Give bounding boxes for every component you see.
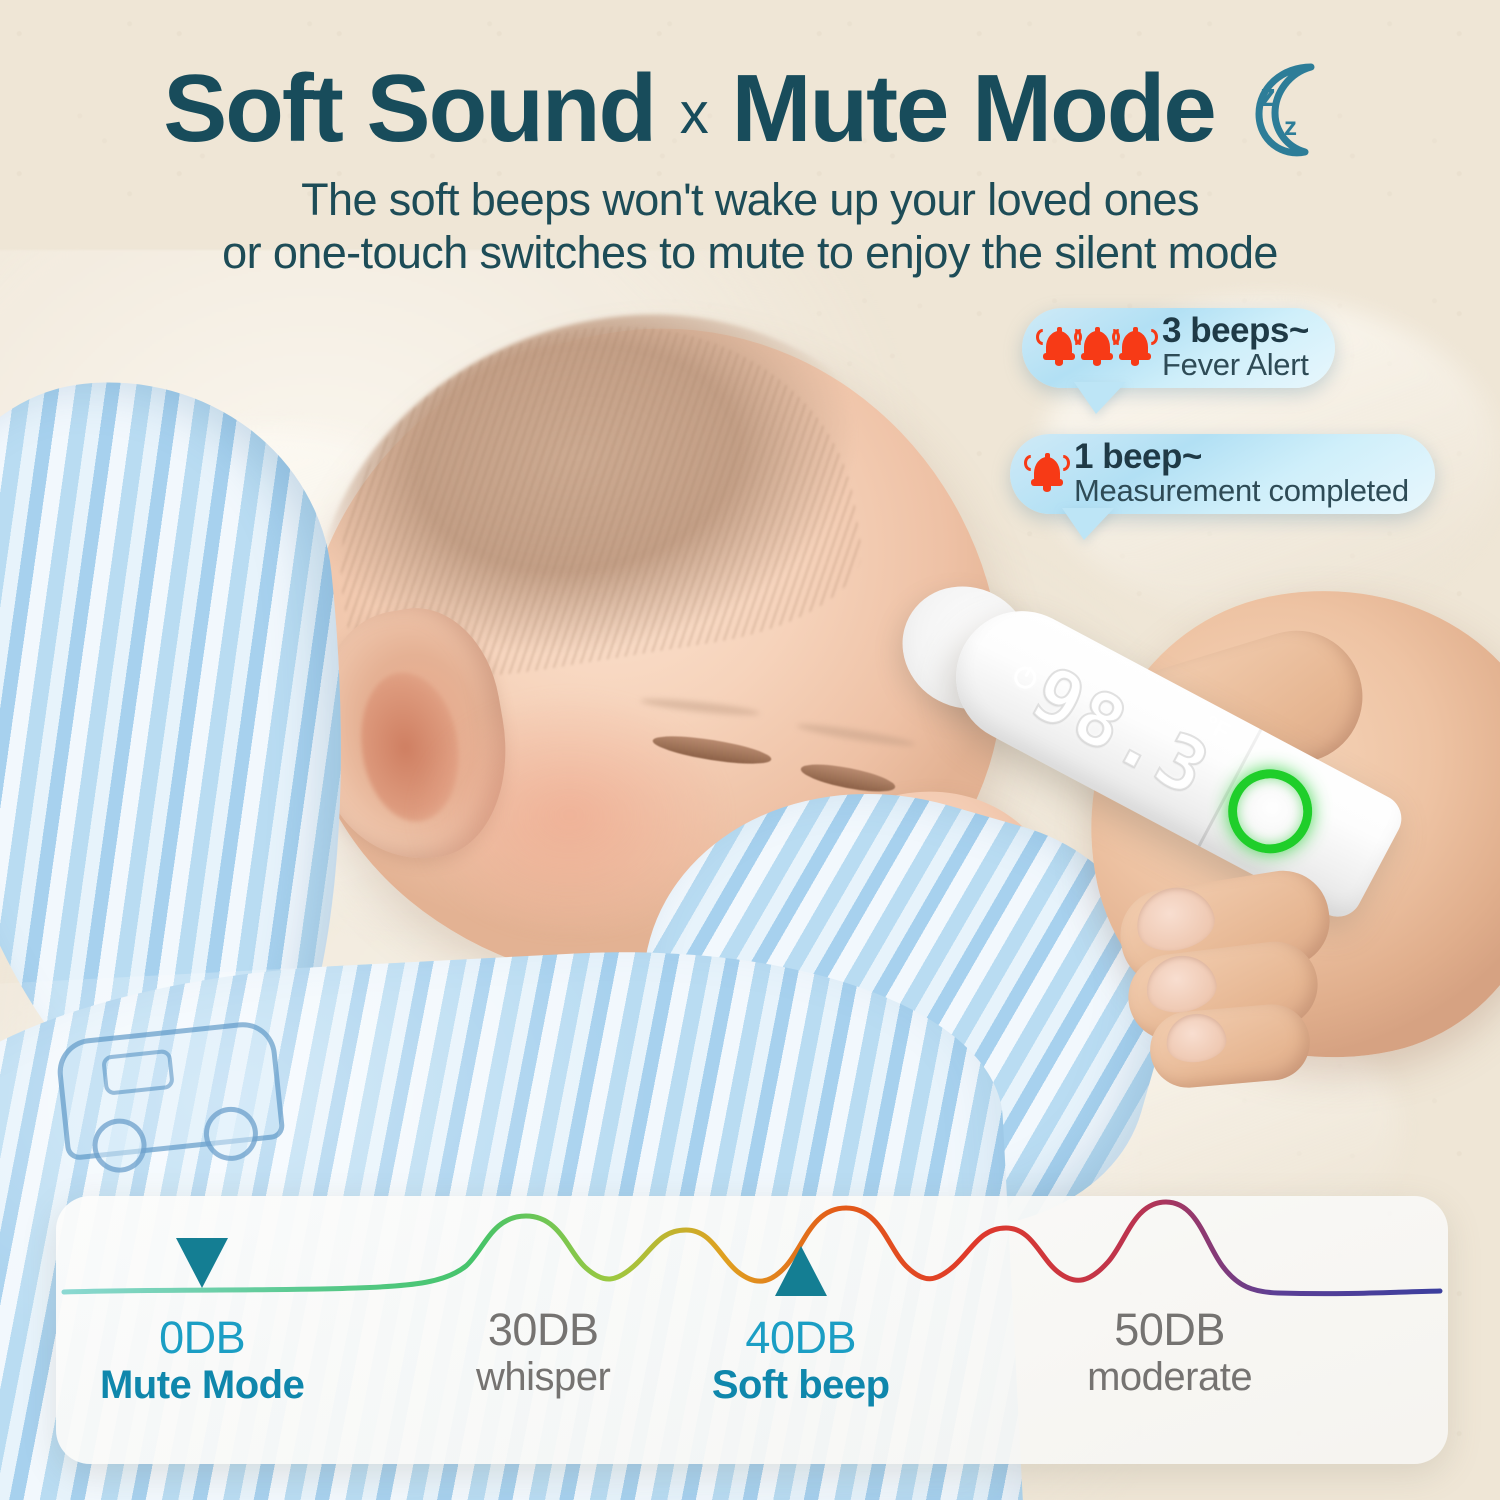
decibel-scale-panel: 0DBMute Mode30DBwhisper40DBSoft beep50DB…	[56, 1196, 1448, 1464]
title-part-1: Soft Sound	[163, 55, 655, 162]
bell-group	[1030, 453, 1064, 493]
car-window	[101, 1049, 175, 1096]
svg-text:z: z	[1284, 111, 1297, 141]
bell-icon	[1118, 327, 1152, 367]
marker-0db	[176, 1238, 228, 1288]
tick-db-label: Soft beep	[651, 1363, 951, 1408]
power-icon	[1010, 663, 1040, 693]
tick-50db: 50DBmoderate	[1020, 1306, 1320, 1399]
callout-text: 3 beeps~ Fever Alert	[1162, 313, 1309, 380]
car-embroidery	[54, 1019, 285, 1161]
tick-db-label: Mute Mode	[56, 1363, 352, 1408]
callout-text: 1 beep~ Measurement completed	[1074, 439, 1409, 506]
bell-icon	[1030, 453, 1064, 493]
moon-zzz-icon: z z	[1233, 57, 1337, 161]
callout-headline: 3 beeps~	[1162, 313, 1309, 349]
tick-0db: 0DBMute Mode	[56, 1314, 352, 1407]
tick-db-value: 30DB	[393, 1306, 693, 1355]
tick-db-label: whisper	[393, 1355, 693, 1400]
callout-measurement-completed: 1 beep~ Measurement completed	[1010, 434, 1435, 514]
callout-sub: Measurement completed	[1074, 475, 1409, 507]
tick-db-value: 0DB	[56, 1314, 352, 1363]
tick-30db: 30DBwhisper	[393, 1306, 693, 1399]
title-separator: x	[680, 81, 707, 146]
subtitle-line-2: or one-touch switches to mute to enjoy t…	[0, 227, 1500, 280]
bell-icon	[1042, 327, 1076, 367]
subtitle-line-1: The soft beeps won't wake up your loved …	[0, 174, 1500, 227]
callout-sub: Fever Alert	[1162, 349, 1309, 381]
bell-icon	[1080, 327, 1114, 367]
measure-button[interactable]	[1213, 755, 1327, 869]
page-title: Soft Sound x Mute Mode z z	[0, 54, 1500, 164]
tick-db-value: 50DB	[1020, 1306, 1320, 1355]
callout-fever-alert: 3 beeps~ Fever Alert	[1022, 308, 1335, 388]
marker-40db	[775, 1246, 827, 1296]
tick-db-value: 40DB	[651, 1314, 951, 1363]
title-text: Soft Sound x Mute Mode	[163, 54, 1215, 164]
callout-headline: 1 beep~	[1074, 439, 1409, 475]
tick-db-label: moderate	[1020, 1355, 1320, 1400]
tick-40db: 40DBSoft beep	[651, 1314, 951, 1407]
svg-text:z: z	[1260, 77, 1276, 113]
title-part-2: Mute Mode	[731, 55, 1214, 162]
page-subtitle: The soft beeps won't wake up your loved …	[0, 174, 1500, 279]
bell-group	[1042, 327, 1152, 367]
